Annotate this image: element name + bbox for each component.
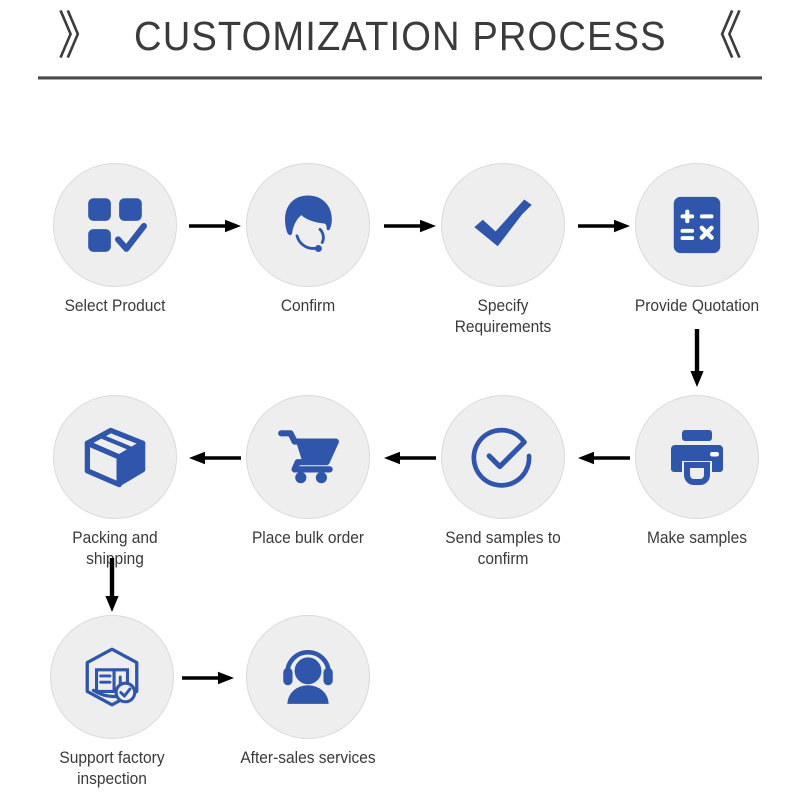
step-icon-bubble	[635, 163, 759, 287]
flow-step-label: Support factory inspection	[42, 748, 183, 790]
flow-step-packing-and-shipping[interactable]: Packing and shipping	[40, 395, 190, 570]
step-icon-bubble	[246, 615, 370, 739]
flow-step-after-sales-services[interactable]: After-sales services	[233, 615, 383, 769]
arrow-send-to-bulk	[384, 450, 436, 466]
step-icon-bubble	[635, 395, 759, 519]
arrow-inspection-to-aftersales	[182, 670, 234, 686]
flow-step-place-bulk-order[interactable]: Place bulk order	[233, 395, 383, 549]
step-icon-bubble	[246, 163, 370, 287]
flow-step-label: Send samples to confirm	[433, 528, 574, 570]
arrow-packing-to-inspection	[104, 558, 120, 612]
step-icon-bubble	[441, 163, 565, 287]
circle-check-icon	[469, 423, 537, 491]
process-flow-diagram: Select Product Confirm Specify Requireme…	[0, 0, 800, 800]
flow-step-provide-quotation[interactable]: Provide Quotation	[622, 163, 772, 317]
calculator-icon	[666, 194, 728, 256]
printer-icon	[665, 425, 729, 489]
arrow-select-to-confirm	[189, 218, 241, 234]
step-icon-bubble	[50, 615, 174, 739]
flow-step-label: After-sales services	[238, 748, 379, 769]
flow-step-label: Provide Quotation	[627, 296, 768, 317]
arrow-confirm-to-specify	[384, 218, 436, 234]
flow-step-support-factory-inspection[interactable]: Support factory inspection	[37, 615, 187, 790]
support-person-icon	[275, 644, 341, 710]
arrow-quotation-to-samples	[689, 329, 705, 387]
headset-agent-icon	[273, 190, 343, 260]
flow-step-label: Make samples	[627, 528, 768, 549]
step-icon-bubble	[441, 395, 565, 519]
flow-step-label: Specify Requirements	[433, 296, 574, 338]
step-icon-bubble	[246, 395, 370, 519]
arrow-specify-to-quotation	[578, 218, 630, 234]
arrow-bulk-to-packing	[189, 450, 241, 466]
shopping-cart-icon	[275, 424, 341, 490]
flow-step-make-samples[interactable]: Make samples	[622, 395, 772, 549]
step-icon-bubble	[53, 163, 177, 287]
step-icon-bubble	[53, 395, 177, 519]
flow-step-label: Place bulk order	[238, 528, 379, 549]
flow-step-confirm[interactable]: Confirm	[233, 163, 383, 317]
checkmark-icon	[469, 191, 537, 259]
arrow-samples-to-send	[578, 450, 630, 466]
flow-step-label: Confirm	[238, 296, 379, 317]
flow-step-send-samples-to-confirm[interactable]: Send samples to confirm	[428, 395, 578, 570]
flow-step-select-product[interactable]: Select Product	[40, 163, 190, 317]
package-box-icon	[81, 423, 149, 491]
flow-step-label: Select Product	[45, 296, 186, 317]
factory-check-icon	[79, 644, 145, 710]
flow-step-specify-requirements[interactable]: Specify Requirements	[428, 163, 578, 338]
grid-check-icon	[82, 192, 148, 258]
